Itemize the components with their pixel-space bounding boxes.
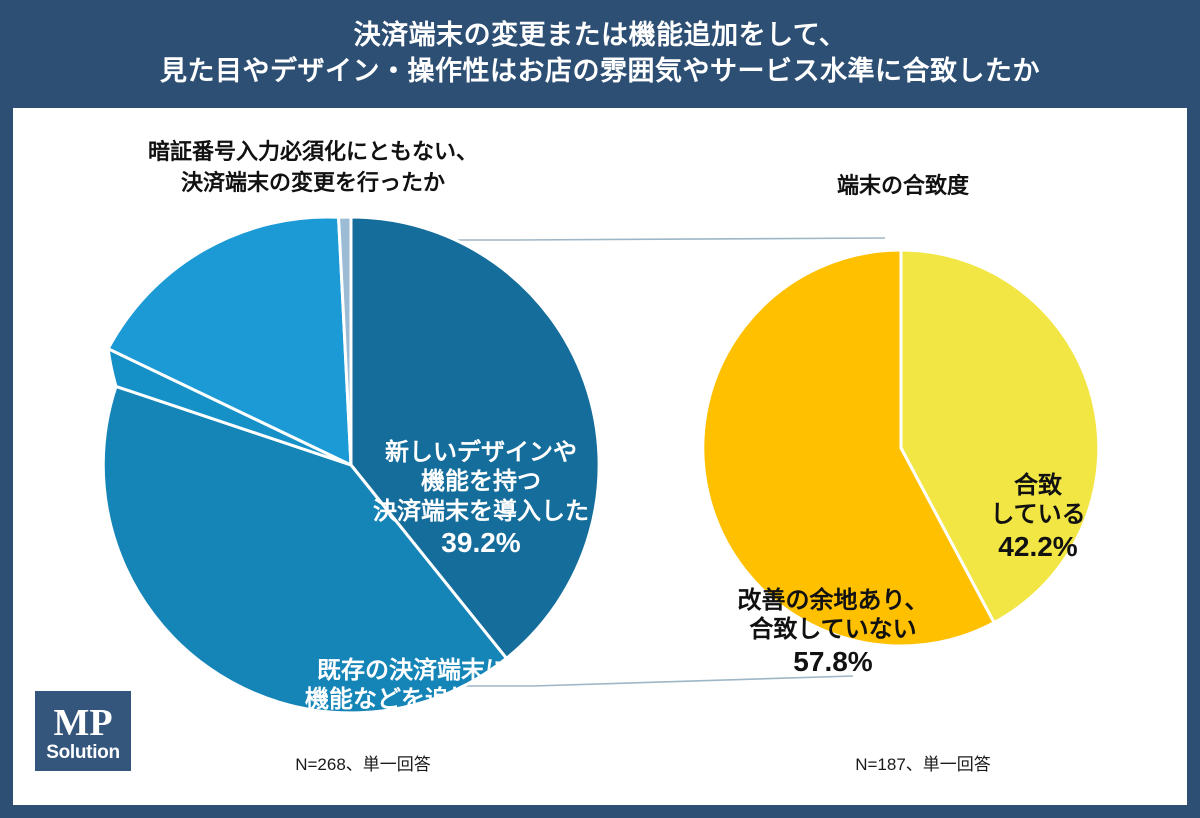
right-pie-svg xyxy=(701,248,1101,648)
left-pie-chart xyxy=(101,215,601,715)
infographic-page: 決済端末の変更または機能追加をして、 見た目やデザイン・操作性はお店の雰囲気やサ… xyxy=(0,0,1200,818)
left-chart-title-line-1: 暗証番号入力必須化にともない、 xyxy=(148,139,478,164)
right-pie-chart xyxy=(701,248,1101,648)
left-pie-label-2-percent: 30.6% xyxy=(263,715,563,749)
logo-wordmark: Solution xyxy=(46,742,120,763)
header-banner: 決済端末の変更または機能追加をして、 見た目やデザイン・操作性はお店の雰囲気やサ… xyxy=(0,0,1200,106)
right-chart-footnote: N=187、単一回答 xyxy=(753,750,1093,775)
left-chart-title: 暗証番号入力必須化にともない、 決済端末の変更を行ったか xyxy=(73,136,553,198)
logo-mark: MP xyxy=(53,704,112,742)
content-card: 暗証番号入力必須化にともない、 決済端末の変更を行ったか 端末の合致度 xyxy=(13,108,1187,805)
right-chart-title: 端末の合致度 xyxy=(713,170,1093,201)
right-pie-label-2-percent: 57.8% xyxy=(697,645,969,679)
left-chart-footnote: N=268、単一回答 xyxy=(193,750,533,775)
left-pie-svg xyxy=(101,215,601,715)
mp-solution-logo: MP Solution xyxy=(35,691,131,771)
left-chart-title-line-2: 決済端末の変更を行ったか xyxy=(181,170,445,195)
page-title-line-1: 決済端末の変更または機能追加をして、 xyxy=(354,17,847,53)
page-title-line-2: 見た目やデザイン・操作性はお店の雰囲気やサービス水準に合致したか xyxy=(160,53,1040,89)
